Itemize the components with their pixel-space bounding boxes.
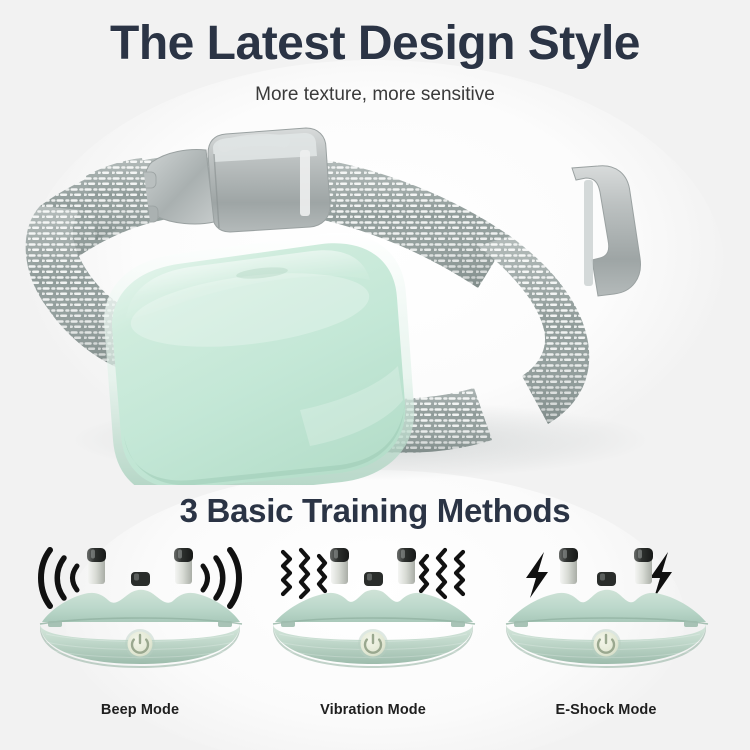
metal-contact-prong-left xyxy=(87,548,106,584)
strap-keeper-loop xyxy=(572,166,640,296)
power-button xyxy=(125,629,155,659)
lightning-bolt-icon xyxy=(526,552,548,598)
lightning-bolt-icon xyxy=(650,552,672,598)
training-modes-row: Beep Mode xyxy=(0,536,750,736)
vibration-mode-illustration xyxy=(253,536,493,676)
center-sensor-knob xyxy=(131,572,150,586)
mode-label-eshock: E-Shock Mode xyxy=(486,702,726,718)
collar-control-unit xyxy=(104,233,414,485)
metal-contact-prong-right xyxy=(174,548,193,584)
mode-card-eshock: E-Shock Mode xyxy=(486,536,726,736)
metal-contact-prong-left xyxy=(559,548,578,584)
page-title: The Latest Design Style xyxy=(0,16,750,71)
sound-wave-icon xyxy=(41,550,77,606)
mode-label-beep: Beep Mode xyxy=(20,702,260,718)
metal-contact-prong-right xyxy=(397,548,416,584)
center-sensor-knob xyxy=(364,572,383,586)
metal-contact-prong-left xyxy=(330,548,349,584)
metal-contact-prong-right xyxy=(634,548,653,584)
power-button xyxy=(591,629,621,659)
page-subtitle: More texture, more sensitive xyxy=(0,84,750,106)
beep-mode-illustration xyxy=(20,536,260,676)
product-infographic-page: The Latest Design Style More texture, mo… xyxy=(0,0,750,750)
mode-label-vibration: Vibration Mode xyxy=(253,702,493,718)
hero-product-image xyxy=(0,110,750,485)
methods-section-title: 3 Basic Training Methods xyxy=(0,492,750,530)
mode-card-vibration: Vibration Mode xyxy=(253,536,493,736)
vibration-zigzag-icon xyxy=(283,550,325,597)
eshock-mode-illustration xyxy=(486,536,726,676)
side-release-buckle xyxy=(130,128,330,232)
center-sensor-knob xyxy=(597,572,616,586)
power-button xyxy=(358,629,388,659)
vibration-zigzag-icon xyxy=(421,550,463,597)
mode-card-beep: Beep Mode xyxy=(20,536,260,736)
strap-tail-left xyxy=(86,158,150,240)
